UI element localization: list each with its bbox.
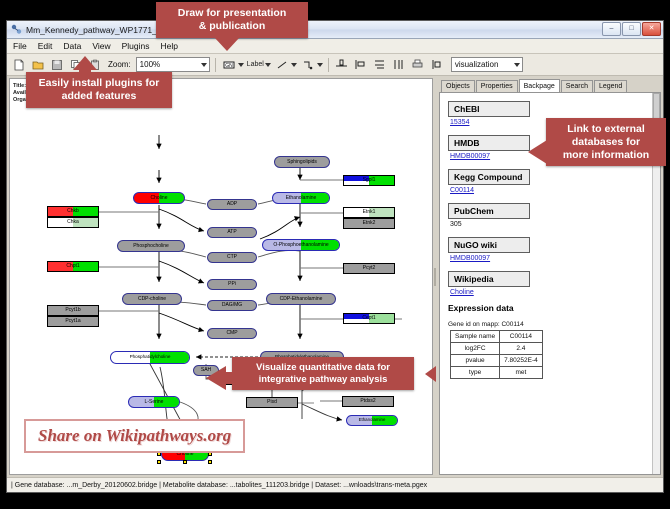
node-label: Phosphocholine (133, 244, 169, 249)
tab-search[interactable]: Search (561, 80, 593, 92)
screenshot-root: Mm_Kennedy_pathway_WP1771_45176.gpml – □… (0, 0, 670, 509)
expr-val-sample-name: C00114 (500, 331, 543, 343)
gene-box-pcyt2[interactable]: Pcyt2 (343, 263, 395, 274)
annotation-arrow-left-expression (425, 366, 436, 382)
node-label: Phosphatidylcholine (130, 355, 171, 360)
node-label: L-Serine (145, 400, 164, 405)
datanode-icon[interactable]: GN (221, 57, 237, 73)
shape-tool[interactable] (300, 57, 323, 73)
table-row: Sample name C00114 (451, 331, 543, 343)
expr-val-type: met (500, 367, 543, 379)
node-label: ADP (227, 202, 237, 207)
chevron-down-icon[interactable] (317, 63, 323, 67)
gene-label: Pcyt1b (65, 308, 80, 313)
annotation-share-box: Share on Wikipathways.org (24, 419, 245, 453)
menu-edit[interactable]: Edit (37, 41, 54, 51)
expression-data-title: Expression data (448, 303, 654, 313)
selection-handle-se[interactable] (208, 460, 212, 464)
line-tool[interactable] (274, 57, 297, 73)
gene-label: Etnk2 (363, 221, 376, 226)
db-value-pubchem: 305 (450, 221, 654, 228)
menu-file[interactable]: File (12, 41, 28, 51)
table-row: pvalue 7.80252E-4 (451, 355, 543, 367)
node-ethanolamine-bottom[interactable]: Ethanolamine (346, 415, 398, 426)
gene-box-pcyt1a[interactable]: Pcyt1a (47, 316, 99, 327)
chevron-down-icon[interactable] (265, 63, 271, 67)
annotation-line: added features (34, 90, 164, 103)
splitter-grip (434, 268, 436, 286)
open-folder-icon[interactable] (30, 57, 46, 73)
db-header-pubchem: PubChem (448, 203, 530, 219)
node-label: Sphingolipids (287, 160, 317, 165)
expr-val-log2fc: 2.4 (500, 343, 543, 355)
zoom-value: 100% (140, 60, 160, 69)
node-label: CMP (226, 331, 237, 336)
tab-backpage[interactable]: Backpage (519, 79, 560, 92)
annotation-arrow-stem-plugins (79, 68, 91, 76)
tab-objects[interactable]: Objects (441, 80, 475, 92)
node-atp[interactable]: ATP (207, 227, 257, 238)
title-bar: Mm_Kennedy_pathway_WP1771_45176.gpml – □… (7, 21, 663, 39)
db-link-nugo-wiki[interactable]: HMDB00097 (450, 255, 654, 262)
chevron-down-icon (201, 63, 207, 67)
pathvisio-icon (11, 24, 22, 35)
node-label: Choline (151, 196, 168, 201)
node-phosphatidylcholine[interactable]: Phosphatidylcholine (110, 351, 190, 364)
node-phosphocholine[interactable]: Phosphocholine (117, 240, 185, 252)
gene-box-cept1[interactable]: Cept1 (343, 313, 395, 324)
annotation-share-text: Share on Wikipathways.org (38, 426, 231, 445)
gene-box-chka[interactable]: Chka (47, 217, 99, 228)
annotation-line: Easily install plugins for (34, 77, 164, 90)
status-bar: | Gene database: ...m_Derby_20120602.bri… (7, 477, 663, 492)
zoom-combo[interactable]: 100% (136, 57, 210, 72)
gene-box-ptdss2[interactable]: Ptdss2 (342, 396, 394, 407)
toolbar-separator (215, 58, 216, 72)
chevron-down-icon[interactable] (291, 63, 297, 67)
annotation-visualize-callout: Visualize quantitative data for integrat… (232, 357, 414, 390)
visualization-value: visualization (455, 60, 499, 69)
gene-label: Pcyt2 (363, 266, 376, 271)
elbow-connector-icon[interactable] (300, 57, 316, 73)
menu-bar: File Edit Data View Plugins Help (7, 39, 663, 54)
status-text: | Gene database: ...m_Derby_20120602.bri… (11, 482, 427, 489)
gene-box-chpt1[interactable]: Chpt1 (47, 261, 99, 272)
line-icon[interactable] (274, 57, 290, 73)
gene-label: Sgpl1 (363, 178, 376, 183)
expr-key-type: type (451, 367, 500, 379)
expr-key-sample-name: Sample name (451, 331, 500, 343)
annotation-line: more information (554, 149, 658, 162)
gene-label: Chka (67, 220, 79, 225)
db-header-kegg-compound: Kegg Compound (448, 169, 530, 185)
node-label: ATP (227, 230, 236, 235)
tab-legend[interactable]: Legend (594, 80, 627, 92)
node-ctp[interactable]: CTP (207, 252, 257, 263)
db-header-nugo-wiki: NuGO wiki (448, 237, 530, 253)
gene-label: Pisd (267, 400, 277, 405)
annotation-line: Draw for presentation (164, 7, 300, 20)
gene-id-on-mapp: Gene id on mapp: C00114 (448, 321, 654, 328)
gene-box-chkb[interactable]: Chkb (47, 206, 99, 217)
new-file-icon[interactable] (11, 57, 27, 73)
annotation-line: Link to external (554, 123, 658, 136)
node-label: Ethanolamine (286, 196, 317, 201)
node-adp[interactable]: ADP (207, 199, 257, 210)
expression-table: Sample name C00114 log2FC 2.4 pvalue 7.8… (450, 330, 543, 379)
gene-box-etnk2[interactable]: Etnk2 (343, 218, 395, 229)
menu-plugins[interactable]: Plugins (121, 41, 151, 51)
annotation-plugins-callout: Easily install plugins for added feature… (26, 72, 172, 108)
align-left-icon[interactable] (353, 57, 369, 73)
selection-handle-sw[interactable] (157, 460, 161, 464)
label-tool-text: Label (247, 61, 264, 68)
gene-box-pcyt1b[interactable]: Pcyt1b (47, 305, 99, 316)
node-cdp-choline[interactable]: CDP-choline (122, 293, 182, 305)
annotation-arrow-left-visualize (206, 366, 226, 390)
distribute-horizontal-icon[interactable] (391, 57, 407, 73)
node-label: CTP (227, 255, 237, 260)
node-label: CDP-Ethanolamine (280, 297, 323, 302)
node-label: Ethanolamine (359, 418, 386, 422)
annotation-arrow-stem-draw (220, 30, 234, 40)
db-header-chebi: ChEBI (448, 101, 530, 117)
table-row: type met (451, 367, 543, 379)
gene-box-pisd[interactable]: Pisd (246, 397, 298, 408)
node-choline-top[interactable]: Choline (133, 192, 185, 204)
menu-data[interactable]: Data (62, 41, 82, 51)
pathway-canvas[interactable]: Title: Availa Organi (10, 79, 432, 474)
minimize-button[interactable]: – (602, 22, 621, 36)
node-sphingolipids[interactable]: Sphingolipids (274, 156, 330, 168)
node-o-phosphoethanolamine[interactable]: O-Phosphoethanolamine (262, 239, 340, 251)
expr-key-pvalue: pvalue (451, 355, 500, 367)
expr-val-pvalue: 7.80252E-4 (500, 355, 543, 367)
node-ppi[interactable]: PPi (207, 279, 257, 290)
annotation-line: integrative pathway analysis (240, 374, 406, 386)
pathway-editor-pane[interactable]: Title: Availa Organi (9, 78, 433, 475)
expr-key-log2fc: log2FC (451, 343, 500, 355)
node-l-serine-left[interactable]: L-Serine (128, 396, 180, 408)
annotation-links-callout: Link to external databases for more info… (546, 118, 666, 166)
fit-icon[interactable] (429, 57, 445, 73)
gene-label: Pcyt1a (65, 319, 80, 324)
close-button[interactable]: ✕ (642, 22, 661, 36)
selection-handle-s[interactable] (183, 460, 187, 464)
node-dag-mg[interactable]: DAG/MG (207, 300, 257, 311)
pane-splitter[interactable] (433, 76, 437, 477)
node-label: CDP-choline (138, 297, 166, 302)
side-panel-tabs: Objects Properties Backpage Search Legen… (439, 78, 661, 92)
node-label: DAG/MG (222, 303, 242, 308)
annotation-line: databases for (554, 136, 658, 149)
annotation-arrow-stem-links (545, 146, 551, 158)
gene-label: Cept1 (362, 316, 375, 321)
node-label: O-Phosphoethanolamine (273, 243, 328, 248)
gene-box-etnk1[interactable]: Etnk1 (343, 207, 395, 218)
db-header-wikipedia: Wikipedia (448, 271, 530, 287)
node-label: PPi (228, 282, 236, 287)
annotation-line: Visualize quantitative data for (240, 362, 406, 374)
save-icon[interactable] (49, 57, 65, 73)
toolbar-separator (328, 58, 329, 72)
chevron-down-icon (514, 63, 520, 67)
datanode-tool[interactable]: GN (221, 57, 244, 73)
gene-label: Ptdss2 (360, 399, 375, 404)
node-cmp[interactable]: CMP (207, 328, 257, 339)
db-link-wikipedia[interactable]: Choline (450, 289, 654, 296)
svg-text:GN: GN (225, 63, 233, 69)
table-row: log2FC 2.4 (451, 343, 543, 355)
distribute-vertical-icon[interactable] (372, 57, 388, 73)
gene-label: Chkb (67, 209, 79, 214)
gene-box-sgpl1[interactable]: Sgpl1 (343, 175, 395, 186)
zoom-label: Zoom: (108, 60, 131, 69)
db-link-kegg-compound[interactable]: C00114 (450, 187, 654, 194)
window-controls: – □ ✕ (602, 22, 661, 36)
annotation-arrow-stem-visualize (224, 372, 234, 384)
print-icon[interactable] (410, 57, 426, 73)
gene-label: Chpt1 (66, 264, 79, 269)
db-header-hmdb: HMDB (448, 135, 530, 151)
label-tool[interactable]: Label (247, 61, 271, 68)
maximize-button[interactable]: □ (622, 22, 641, 36)
gene-label: Etnk1 (363, 210, 376, 215)
visualization-combo[interactable]: visualization (451, 57, 523, 72)
node-ethanolamine-top[interactable]: Ethanolamine (272, 192, 330, 204)
align-center-icon[interactable] (334, 57, 350, 73)
menu-view[interactable]: View (91, 41, 111, 51)
node-cdp-ethanolamine[interactable]: CDP-Ethanolamine (266, 293, 336, 305)
menu-help[interactable]: Help (160, 41, 179, 51)
tab-properties[interactable]: Properties (476, 80, 518, 92)
chevron-down-icon[interactable] (238, 63, 244, 67)
